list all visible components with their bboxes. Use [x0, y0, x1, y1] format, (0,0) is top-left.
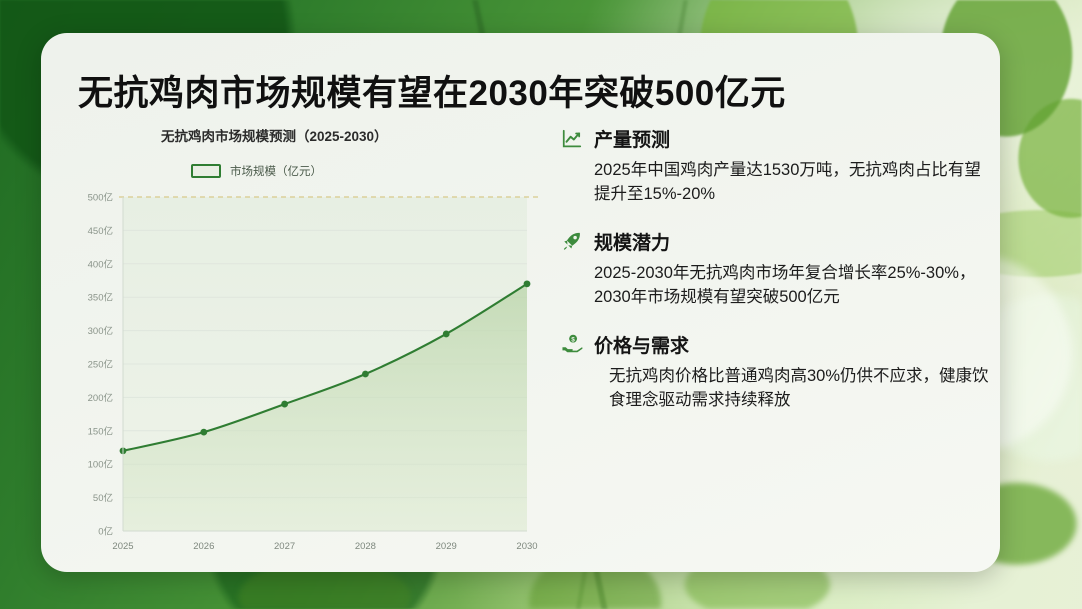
- chart-line-icon: [561, 128, 583, 150]
- chart-y-tick-labels: 0亿50亿100亿150亿200亿250亿300亿350亿400亿450亿500…: [88, 192, 113, 538]
- y-tick-label: 250亿: [88, 359, 113, 371]
- x-tick-label: 2027: [274, 541, 295, 552]
- y-tick-label: 500亿: [88, 192, 113, 204]
- data-point[interactable]: [362, 371, 369, 378]
- y-tick-label: 350亿: [88, 292, 113, 304]
- chart-x-tick-labels: 202520262027202820292030: [112, 541, 537, 552]
- legend-label: 市场规模（亿元）: [230, 163, 322, 179]
- chart-subtitle: 无抗鸡肉市场规模预测（2025-2030）: [161, 125, 388, 145]
- y-tick-label: 300亿: [88, 325, 113, 337]
- point-body: 2025-2030年无抗鸡肉市场年复合增长率25%-30%，2030年市场规模有…: [594, 261, 991, 310]
- line-chart-svg: 0亿50亿100亿150亿200亿250亿300亿350亿400亿450亿500…: [61, 187, 541, 555]
- y-tick-label: 200亿: [88, 392, 113, 404]
- key-points-list: 产量预测 2025年中国鸡肉产量达1530万吨，无抗鸡肉占比有望提升至15%-2…: [561, 125, 991, 433]
- data-point[interactable]: [200, 429, 207, 436]
- list-item[interactable]: $ 价格与需求 无抗鸡肉价格比普通鸡肉高30%仍供不应求，健康饮食理念驱动需求持…: [561, 331, 991, 413]
- point-header: 规模潜力: [561, 228, 991, 255]
- legend-swatch-icon: [191, 164, 221, 178]
- slide-card: 无抗鸡肉市场规模有望在2030年突破500亿元 无抗鸡肉市场规模预测（2025-…: [41, 33, 1000, 572]
- chart-panel: 无抗鸡肉市场规模预测（2025-2030） 市场规模（亿元）: [61, 125, 541, 555]
- list-item[interactable]: 产量预测 2025年中国鸡肉产量达1530万吨，无抗鸡肉占比有望提升至15%-2…: [561, 125, 991, 207]
- point-body: 无抗鸡肉价格比普通鸡肉高30%仍供不应求，健康饮食理念驱动需求持续释放: [609, 364, 991, 413]
- svg-text:$: $: [571, 336, 575, 343]
- point-header: 产量预测: [561, 125, 991, 152]
- y-tick-label: 400亿: [88, 258, 113, 270]
- x-tick-label: 2026: [193, 541, 214, 552]
- x-tick-label: 2029: [436, 541, 457, 552]
- x-tick-label: 2030: [516, 541, 537, 552]
- x-tick-label: 2028: [355, 541, 376, 552]
- data-point[interactable]: [281, 401, 288, 408]
- point-title: 规模潜力: [594, 228, 670, 255]
- data-point[interactable]: [524, 280, 531, 287]
- x-tick-label: 2025: [112, 541, 133, 552]
- page-title: 无抗鸡肉市场规模有望在2030年突破500亿元: [78, 65, 786, 116]
- list-item[interactable]: 规模潜力 2025-2030年无抗鸡肉市场年复合增长率25%-30%，2030年…: [561, 228, 991, 310]
- y-tick-label: 450亿: [88, 225, 113, 237]
- chart-plot-area: 0亿50亿100亿150亿200亿250亿300亿350亿400亿450亿500…: [61, 187, 541, 555]
- chart-legend[interactable]: 市场规模（亿元）: [191, 163, 322, 179]
- hand-holding-money-icon: $: [561, 333, 583, 355]
- y-tick-label: 50亿: [93, 492, 113, 504]
- point-title: 产量预测: [594, 125, 670, 152]
- y-tick-label: 100亿: [88, 459, 113, 471]
- y-tick-label: 150亿: [88, 425, 113, 437]
- y-tick-label: 0亿: [98, 526, 113, 538]
- point-header: $ 价格与需求: [561, 331, 991, 358]
- data-point[interactable]: [443, 331, 450, 338]
- point-body: 2025年中国鸡肉产量达1530万吨，无抗鸡肉占比有望提升至15%-20%: [594, 158, 991, 207]
- rocket-icon: [561, 230, 583, 252]
- point-title: 价格与需求: [594, 331, 689, 358]
